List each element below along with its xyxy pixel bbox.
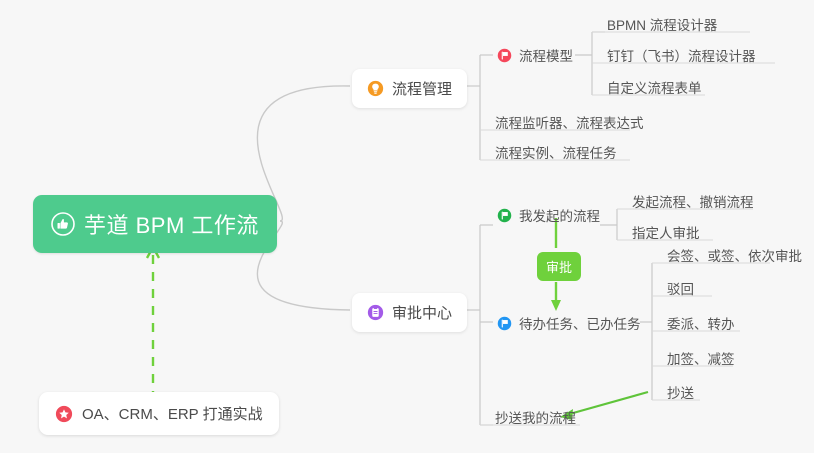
node-cc-to-me[interactable]: 抄送我的流程 <box>489 404 582 432</box>
node-label: 抄送 <box>667 382 694 402</box>
clipboard-icon <box>367 304 384 321</box>
branch-node-process-management[interactable]: 流程管理 <box>352 69 467 108</box>
node-label: 驳回 <box>667 278 694 298</box>
node-label: 会签、或签、依次审批 <box>667 245 802 265</box>
node-delegate-transfer[interactable]: 委派、转办 <box>661 310 741 338</box>
node-label: 流程监听器、流程表达式 <box>495 112 644 132</box>
node-todo-done-tasks[interactable]: 待办任务、已办任务 <box>491 310 647 338</box>
node-process-instance[interactable]: 流程实例、流程任务 <box>489 139 623 167</box>
node-reject[interactable]: 驳回 <box>661 275 700 303</box>
node-add-remove-sign[interactable]: 加签、减签 <box>661 345 741 373</box>
node-label: 流程实例、流程任务 <box>495 142 617 162</box>
node-process-listener[interactable]: 流程监听器、流程表达式 <box>489 109 650 137</box>
thumbs-up-icon <box>51 212 75 236</box>
branch-label: 审批中心 <box>392 302 452 323</box>
tag-approval[interactable]: 审批 <box>537 252 581 281</box>
bottom-card-label: OA、CRM、ERP 打通实战 <box>82 403 263 424</box>
node-label: 流程模型 <box>519 45 573 65</box>
flag-green-icon <box>497 208 512 223</box>
root-node[interactable]: 芋道 BPM 工作流 <box>33 195 277 253</box>
node-label: 指定人审批 <box>632 222 700 242</box>
node-label: BPMN 流程设计器 <box>607 14 717 34</box>
branch-node-approval-center[interactable]: 审批中心 <box>352 293 467 332</box>
star-icon <box>55 405 73 423</box>
node-custom-form[interactable]: 自定义流程表单 <box>601 74 708 102</box>
bottom-card-node[interactable]: OA、CRM、ERP 打通实战 <box>39 392 279 435</box>
flag-blue-icon <box>497 316 512 331</box>
node-label: 加签、减签 <box>667 348 735 368</box>
node-label: 我发起的流程 <box>519 205 600 225</box>
node-dingtalk-designer[interactable]: 钉钉（飞书）流程设计器 <box>601 42 762 70</box>
node-label: 自定义流程表单 <box>607 77 702 97</box>
node-label: 钉钉（飞书）流程设计器 <box>607 45 756 65</box>
node-label: 委派、转办 <box>667 313 735 333</box>
node-bpmn-designer[interactable]: BPMN 流程设计器 <box>601 11 723 39</box>
flag-red-icon <box>497 48 512 63</box>
lightbulb-icon <box>367 80 384 97</box>
node-start-cancel-process[interactable]: 发起流程、撤销流程 <box>626 188 760 216</box>
node-label: 待办任务、已办任务 <box>519 313 641 333</box>
mindmap-canvas: 芋道 BPM 工作流 流程管理 流程模型 BPMN 流程设计器 钉钉（飞书 <box>0 0 814 453</box>
node-label: 发起流程、撤销流程 <box>632 191 754 211</box>
node-process-model[interactable]: 流程模型 <box>491 42 579 70</box>
node-label: 抄送我的流程 <box>495 407 576 427</box>
node-cc[interactable]: 抄送 <box>661 379 700 407</box>
node-countersign[interactable]: 会签、或签、依次审批 <box>661 242 808 270</box>
node-my-initiated[interactable]: 我发起的流程 <box>491 202 606 230</box>
root-label: 芋道 BPM 工作流 <box>84 208 259 240</box>
branch-label: 流程管理 <box>392 78 452 99</box>
